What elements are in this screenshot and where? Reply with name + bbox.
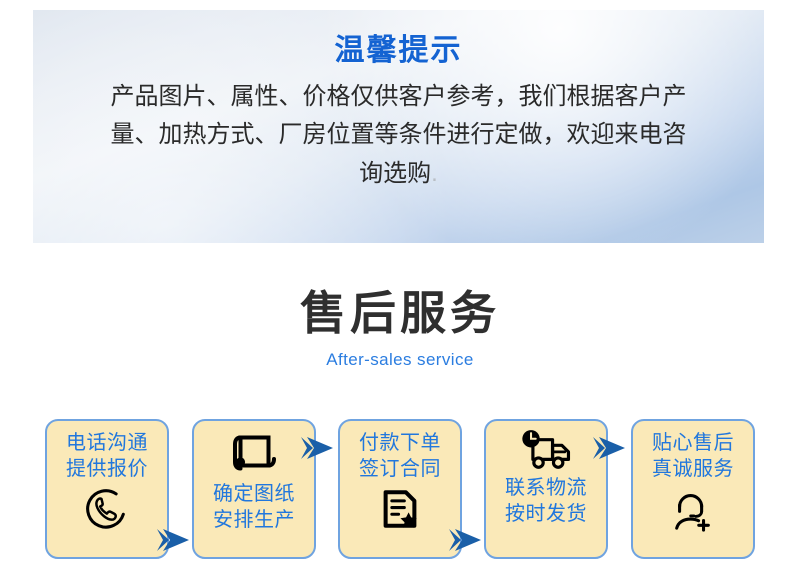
process-step-5-text: 贴心售后 真诚服务 xyxy=(652,430,734,483)
process-step-3-text: 付款下单 签订合同 xyxy=(359,430,441,483)
process-step-4-text: 联系物流 按时发货 xyxy=(505,475,587,528)
section-subtitle: After-sales service xyxy=(0,350,800,370)
process-step-2-line-2: 安排生产 xyxy=(213,507,295,533)
process-step-1-line-2: 提供报价 xyxy=(66,456,148,482)
after-sales-service-section: 售后服务 After-sales service xyxy=(0,288,800,370)
process-step-5-line-2: 真诚服务 xyxy=(652,456,734,482)
customer-service-add-icon xyxy=(633,486,753,532)
contract-star-icon xyxy=(340,486,460,532)
notice-body-line-3-text: 询选购 xyxy=(359,160,431,187)
process-step-2-line-1: 确定图纸 xyxy=(213,481,295,507)
phone-in-circle-icon xyxy=(47,486,167,532)
notice-trailing-mark: . xyxy=(431,160,438,187)
process-step-card-1[interactable]: 电话沟通 提供报价 xyxy=(45,419,169,559)
process-step-1-text: 电话沟通 提供报价 xyxy=(66,430,148,483)
process-step-4-line-1: 联系物流 xyxy=(505,475,587,501)
process-step-card-5[interactable]: 贴心售后 真诚服务 xyxy=(631,419,755,559)
arrow-step3-to-step4 xyxy=(448,527,482,553)
arrow-step1-to-step2 xyxy=(156,527,190,553)
arrow-step4-to-step5 xyxy=(592,435,626,461)
process-step-5-line-1: 贴心售后 xyxy=(652,430,734,456)
delivery-truck-clock-icon xyxy=(486,427,606,473)
notice-body: 产品图片、属性、价格仅供客户参考，我们根据客户产 量、加热方式、厂房位置等条件进… xyxy=(69,78,729,195)
notice-banner: 温馨提示 产品图片、属性、价格仅供客户参考，我们根据客户产 量、加热方式、厂房位… xyxy=(33,10,764,243)
section-title: 售后服务 xyxy=(0,288,800,339)
notice-body-line-1: 产品图片、属性、价格仅供客户参考，我们根据客户产 xyxy=(69,78,729,117)
notice-title: 温馨提示 xyxy=(335,32,463,70)
process-step-card-2[interactable]: 确定图纸 安排生产 xyxy=(192,419,316,559)
blueprint-scroll-icon xyxy=(194,427,314,479)
notice-body-line-3: 询选购. xyxy=(69,155,729,194)
arrow-step2-to-step3 xyxy=(300,435,334,461)
process-step-card-3[interactable]: 付款下单 签订合同 xyxy=(338,419,462,559)
process-step-3-line-2: 签订合同 xyxy=(359,456,441,482)
process-step-2-text: 确定图纸 安排生产 xyxy=(213,481,295,534)
process-step-1-line-1: 电话沟通 xyxy=(66,430,148,456)
service-process-flow: 电话沟通 提供报价 确定图纸 安排生产 付款下单 xyxy=(0,419,800,565)
process-step-card-4[interactable]: 联系物流 按时发货 xyxy=(484,419,608,559)
process-step-3-line-1: 付款下单 xyxy=(359,430,441,456)
notice-body-line-2: 量、加热方式、厂房位置等条件进行定做，欢迎来电咨 xyxy=(69,116,729,155)
process-step-4-line-2: 按时发货 xyxy=(505,501,587,527)
